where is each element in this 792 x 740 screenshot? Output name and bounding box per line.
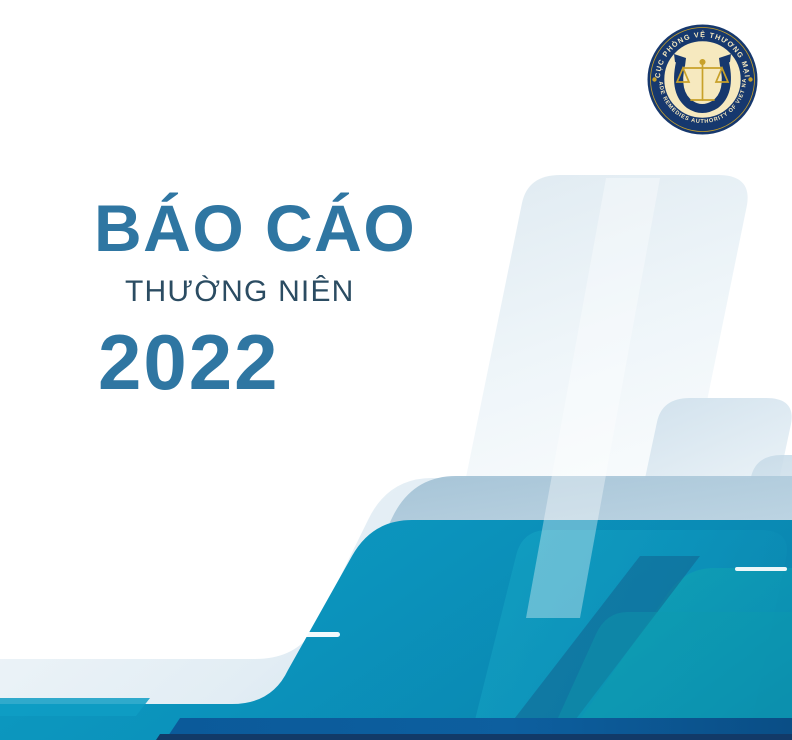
report-year: 2022: [98, 323, 416, 401]
dark-navy-strip: [156, 734, 792, 740]
left-tail-strip: [0, 698, 150, 716]
cover-title-block: BÁO CÁO THƯỜNG NIÊN 2022: [94, 195, 416, 401]
page-title: BÁO CÁO: [94, 195, 416, 261]
accent-line-right: [735, 567, 787, 571]
report-cover-page: CỤC PHÒNG VỆ THƯƠNG MẠI TRADE REMEDIES A…: [0, 0, 792, 740]
organization-logo: CỤC PHÒNG VỆ THƯƠNG MẠI TRADE REMEDIES A…: [645, 22, 760, 137]
logo-ring-dot-left: [652, 77, 656, 81]
navy-band-bottom: [168, 718, 792, 736]
page-subtitle: THƯỜNG NIÊN: [125, 277, 416, 307]
accent-line-left: [205, 632, 340, 637]
